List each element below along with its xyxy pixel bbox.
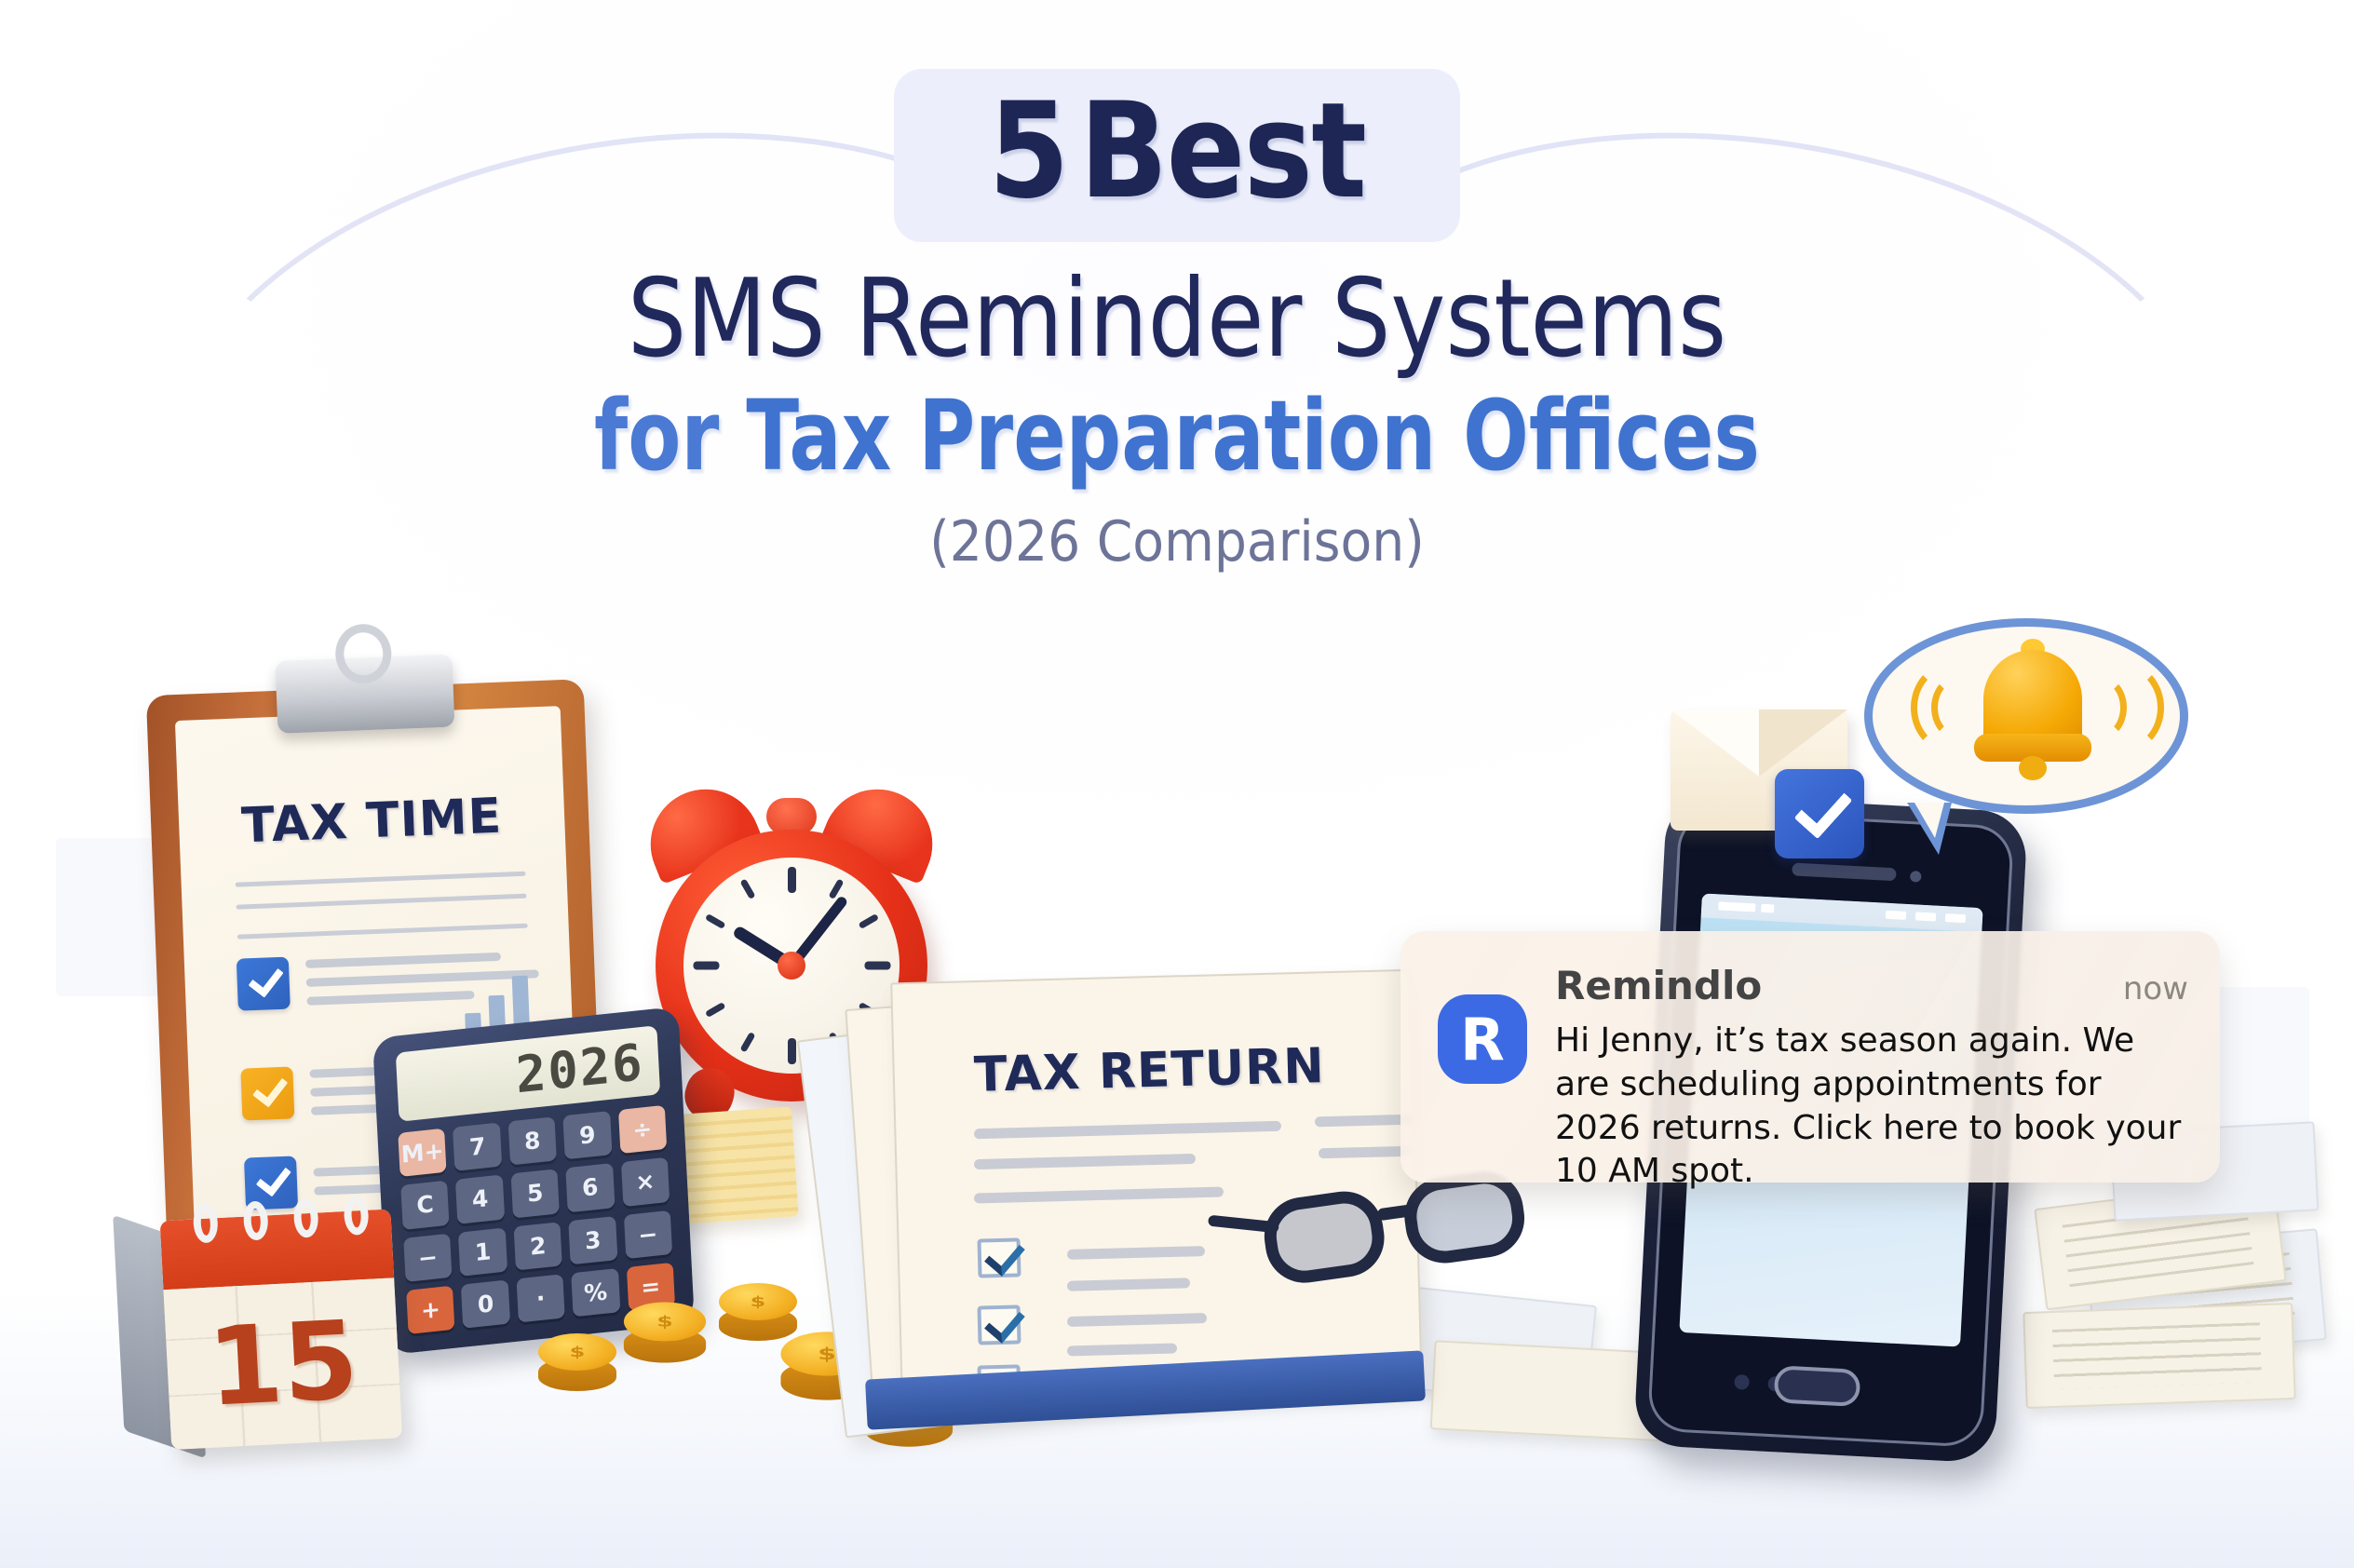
bell-dome xyxy=(1983,650,2082,747)
calculator-key[interactable]: 8 xyxy=(507,1116,557,1166)
checkbox-checked-icon[interactable] xyxy=(237,957,291,1011)
clipboard-heading: TAX TIME xyxy=(178,786,565,857)
headline-badge: 5Best xyxy=(894,69,1460,242)
subtitle-for-word: for xyxy=(594,379,719,493)
phone-front-camera-icon xyxy=(1910,871,1922,883)
notification-content: Remindlo now Hi Jenny, it’s tax season a… xyxy=(1555,963,2188,1155)
calculator-key[interactable]: M+ xyxy=(398,1129,447,1178)
document-checkbox[interactable] xyxy=(977,1304,1021,1345)
coin-face xyxy=(624,1302,706,1341)
headline-word: Best xyxy=(1079,74,1365,228)
calculator-display: 2026 xyxy=(396,1025,660,1121)
checkbox-checked-icon[interactable] xyxy=(240,1066,294,1120)
envelope-flap-right xyxy=(1759,710,1847,777)
clock-center-pin xyxy=(778,952,805,980)
pile-lines xyxy=(2052,1322,2262,1389)
calculator-key[interactable]: % xyxy=(571,1268,620,1318)
calculator-keypad: M+ 7 8 9 ÷ C 4 5 6 × − 1 2 3 − + 0 · % = xyxy=(398,1105,675,1334)
coin-face xyxy=(538,1333,616,1371)
calculator-key[interactable]: 5 xyxy=(510,1169,560,1219)
bell-icon xyxy=(1974,644,2091,782)
phone-speaker xyxy=(1792,862,1897,881)
calculator-key[interactable]: 1 xyxy=(458,1227,507,1277)
calculator-key[interactable]: + xyxy=(406,1285,455,1334)
clipboard-clip xyxy=(276,655,455,734)
subtitle-line-2: for Tax Preparation Offices xyxy=(236,385,2118,487)
envelope-flap-left xyxy=(1671,710,1759,777)
calculator-key[interactable]: 9 xyxy=(563,1111,613,1160)
phone-home-button[interactable] xyxy=(1774,1365,1861,1407)
notification-message: Hi Jenny, it’s tax season again. We are … xyxy=(1555,1020,2188,1194)
notification-timestamp: now xyxy=(2123,970,2188,1007)
calculator-key[interactable]: − xyxy=(624,1210,673,1259)
glasses-lens-left xyxy=(1259,1186,1389,1288)
paper-pile xyxy=(2023,1303,2295,1409)
calculator-key[interactable]: C xyxy=(400,1181,450,1230)
calculator-key[interactable]: × xyxy=(621,1157,670,1207)
notification-header: Remindlo now xyxy=(1555,963,2188,1008)
tax-return-heading: TAX RETURN xyxy=(973,1038,1325,1103)
calculator-display-value: 2026 xyxy=(514,1032,645,1103)
calculator-key[interactable]: 6 xyxy=(565,1163,615,1212)
calculator-key[interactable]: 2 xyxy=(513,1222,562,1271)
calculator-key[interactable]: · xyxy=(516,1274,565,1323)
title-block: 5Best SMS Reminder Systems for Tax Prepa… xyxy=(0,69,2354,573)
page-title: 5Best xyxy=(989,86,1366,218)
notification-app-name: Remindlo xyxy=(1555,963,1762,1008)
subtitle-line-3: (2026 Comparison) xyxy=(94,511,2260,573)
document-checkbox[interactable] xyxy=(977,1237,1021,1277)
coin xyxy=(538,1333,616,1391)
bell-sound-wave xyxy=(2086,663,2164,752)
coin xyxy=(624,1302,706,1362)
divider xyxy=(236,872,526,887)
bubble-tail-inner xyxy=(1914,803,1944,838)
sms-notification-card[interactable]: R Remindlo now Hi Jenny, it’s tax season… xyxy=(1400,931,2220,1183)
check-icon xyxy=(1775,769,1864,858)
bell-clapper xyxy=(2019,756,2047,780)
headline-number: 5 xyxy=(989,74,1068,228)
calculator-key[interactable]: 4 xyxy=(455,1175,505,1224)
calculator-key[interactable]: 7 xyxy=(453,1122,502,1171)
avatar: R xyxy=(1438,994,1527,1084)
calculator-key[interactable]: 0 xyxy=(461,1279,510,1329)
background-document xyxy=(56,838,168,996)
phone-status-bar xyxy=(1701,893,1983,932)
subtitle-highlight: Tax Preparation Offices xyxy=(746,379,1760,493)
coin-face xyxy=(719,1283,797,1320)
calendar-front-panel: 15 xyxy=(160,1209,403,1450)
poster-canvas: 5Best SMS Reminder Systems for Tax Prepa… xyxy=(0,0,2354,1568)
calculator-key[interactable]: − xyxy=(403,1233,453,1282)
calculator-key[interactable]: 3 xyxy=(568,1216,617,1265)
subtitle-line-1: SMS Reminder Systems xyxy=(165,263,2189,376)
calculator-key[interactable]: ÷ xyxy=(618,1105,668,1155)
calendar-day-number: 15 xyxy=(163,1277,402,1450)
phone-sensor-dot xyxy=(1734,1374,1750,1390)
notification-bubble xyxy=(1864,618,2188,814)
desk-calendar: 15 xyxy=(114,1209,405,1455)
divider xyxy=(237,894,527,910)
divider xyxy=(237,924,528,939)
